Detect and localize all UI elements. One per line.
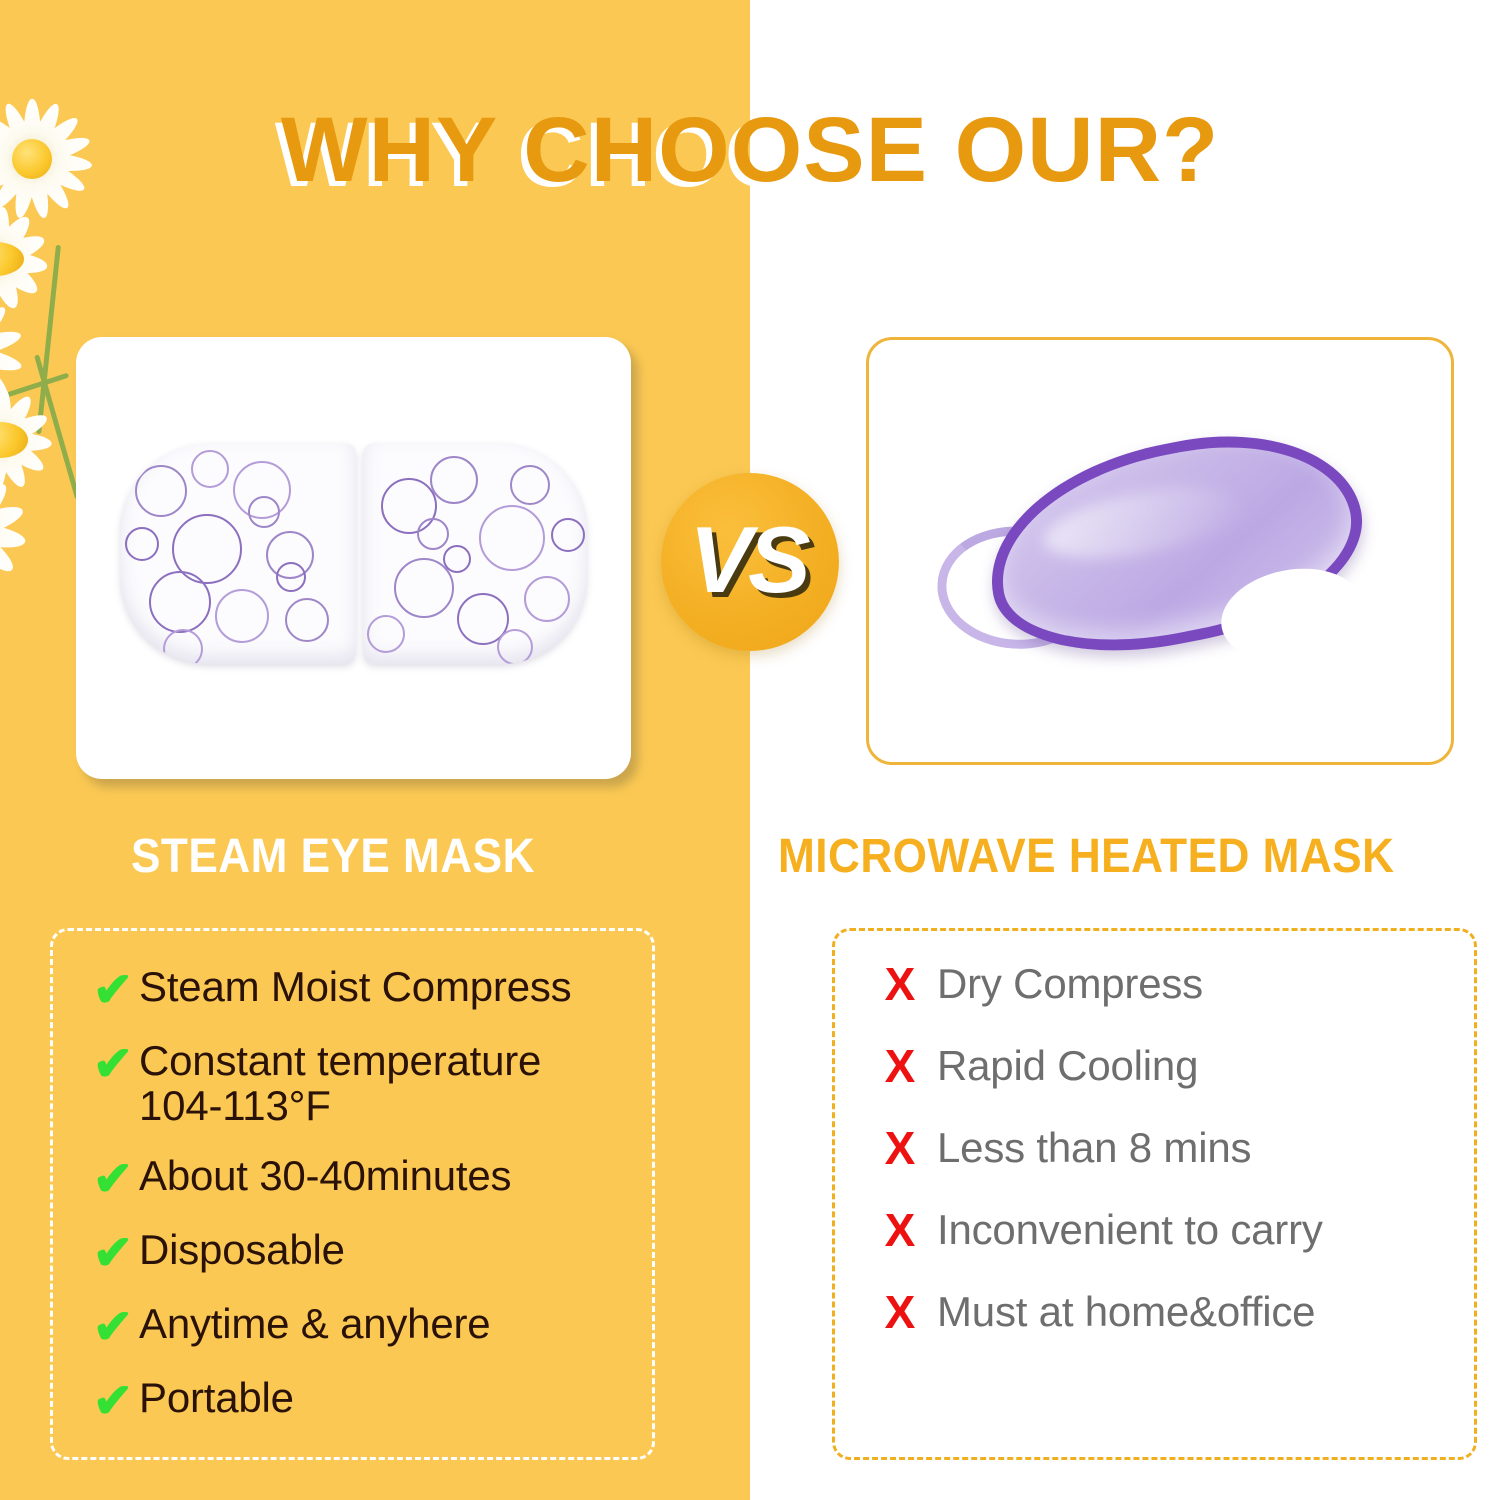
cross-icon: X	[863, 1207, 937, 1253]
right-product-card	[866, 337, 1454, 765]
check-icon: ✔	[87, 967, 139, 1015]
microwave-mask-illustration	[932, 395, 1388, 707]
check-icon: ✔	[87, 1041, 139, 1089]
feature-text: Portable	[139, 1376, 294, 1421]
check-icon: ✔	[87, 1156, 139, 1204]
vs-label: VS	[689, 513, 806, 607]
check-icon: ✔	[87, 1304, 139, 1352]
feature-text: Disposable	[139, 1228, 345, 1273]
feature-text: Less than 8 mins	[937, 1126, 1251, 1171]
feature-text: About 30-40minutes	[139, 1154, 511, 1199]
page-title: WHY CHOOSE OUR?	[0, 98, 1500, 203]
list-item: ✔ Constant temperature 104-113°F	[87, 1039, 630, 1128]
feature-text: Constant temperature 104-113°F	[139, 1039, 630, 1128]
feature-text: Must at home&office	[937, 1290, 1315, 1335]
steam-mask-left-lobe	[120, 443, 355, 664]
steam-mask-illustration	[120, 443, 586, 664]
list-item: ✔ About 30-40minutes	[87, 1154, 630, 1202]
steam-eye-mask-photo	[76, 337, 631, 779]
right-column-heading: MICROWAVE HEATED MASK	[778, 829, 1394, 884]
check-icon: ✔	[87, 1230, 139, 1278]
left-feature-list: ✔ Steam Moist Compress ✔ Constant temper…	[53, 931, 652, 1457]
list-item: X Dry Compress	[863, 961, 1452, 1007]
left-column-heading: STEAM EYE MASK	[131, 829, 535, 884]
list-item: X Must at home&office	[863, 1289, 1452, 1335]
microwave-mask-photo	[869, 340, 1451, 762]
cross-icon: X	[863, 1289, 937, 1335]
feature-text: Anytime & anyhere	[139, 1302, 490, 1347]
feature-text: Dry Compress	[937, 962, 1203, 1007]
check-icon: ✔	[87, 1378, 139, 1426]
list-item: ✔ Steam Moist Compress	[87, 965, 630, 1013]
list-item: X Inconvenient to carry	[863, 1207, 1452, 1253]
infographic-canvas: WHY CHOOSE OUR?	[0, 0, 1500, 1500]
list-item: ✔ Disposable	[87, 1228, 630, 1276]
list-item: X Less than 8 mins	[863, 1125, 1452, 1171]
cross-icon: X	[863, 1125, 937, 1171]
daisy-flower	[0, 467, 46, 595]
left-product-card	[76, 337, 631, 779]
cross-icon: X	[863, 961, 937, 1007]
cross-icon: X	[863, 1043, 937, 1089]
steam-mask-right-lobe	[363, 443, 587, 664]
feature-text: Rapid Cooling	[937, 1044, 1198, 1089]
right-feature-box: X Dry Compress X Rapid Cooling X Less th…	[832, 928, 1477, 1460]
feature-text: Inconvenient to carry	[937, 1208, 1323, 1253]
list-item: ✔ Anytime & anyhere	[87, 1302, 630, 1350]
vs-badge: VS	[661, 473, 839, 651]
list-item: ✔ Portable	[87, 1376, 630, 1424]
daisy-petals	[0, 467, 46, 595]
feature-text: Steam Moist Compress	[139, 965, 571, 1010]
right-feature-list: X Dry Compress X Rapid Cooling X Less th…	[835, 931, 1474, 1457]
list-item: X Rapid Cooling	[863, 1043, 1452, 1089]
mask-sheen	[1039, 474, 1246, 571]
left-feature-box: ✔ Steam Moist Compress ✔ Constant temper…	[50, 928, 655, 1460]
